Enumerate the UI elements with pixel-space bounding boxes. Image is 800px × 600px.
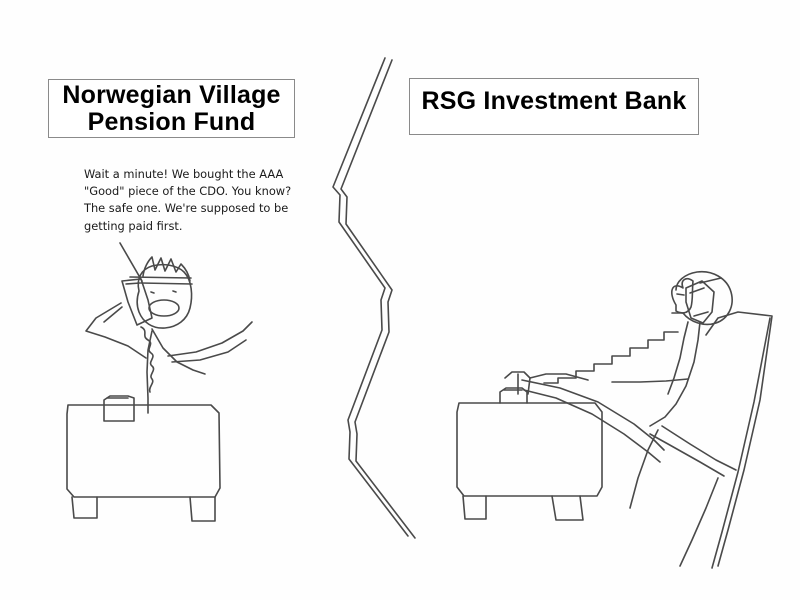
left-arm	[86, 303, 146, 358]
desk-left-icon	[67, 405, 220, 521]
zigzag-divider-icon	[333, 58, 415, 538]
telephone-base-right-icon	[500, 388, 527, 403]
legs-on-desk	[522, 374, 664, 462]
torso-and-right-arm	[147, 322, 252, 413]
cartoon-canvas: Norwegian Village Pension Fund RSG Inves…	[0, 0, 800, 600]
panicked-head-icon	[130, 257, 192, 328]
speech-pointer-line	[120, 243, 142, 281]
telephone-base-icon	[104, 396, 134, 421]
right-panel-art	[457, 272, 772, 568]
cartoon-artwork	[0, 0, 800, 600]
office-chair-icon	[630, 312, 772, 568]
torso-right	[544, 332, 688, 383]
left-panel-art	[67, 243, 252, 521]
desk-right-icon	[457, 403, 602, 520]
phone-handset-right-icon	[686, 281, 714, 323]
arm-right	[650, 322, 700, 426]
